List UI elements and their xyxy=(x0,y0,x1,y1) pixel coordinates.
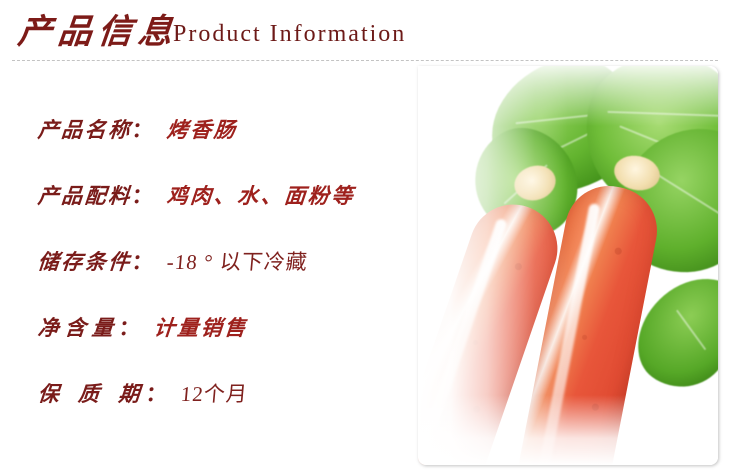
spec-value: 鸡肉、水、面粉等 xyxy=(166,180,357,210)
spec-row-shelf-life: 保 质 期 ： 12个月 xyxy=(0,360,430,426)
spec-label: 产品名称 xyxy=(37,114,134,144)
product-photo-canvas xyxy=(418,66,718,465)
spec-separator: ： xyxy=(131,246,157,276)
spec-label: 净含量 xyxy=(37,312,121,342)
spec-separator: ： xyxy=(131,114,157,144)
spec-value: 计量销售 xyxy=(153,312,250,342)
product-spec-list: 产品名称 ： 烤香肠 产品配料 ： 鸡肉、水、面粉等 储存条件 ： -18 ° … xyxy=(0,96,430,426)
spec-value: 12个月 xyxy=(179,378,249,408)
spec-label: 产品配料 xyxy=(37,180,134,210)
spec-row-storage-condition: 储存条件 ： -18 ° 以下冷藏 xyxy=(0,228,430,294)
photo-fade-bottom xyxy=(418,395,718,465)
spec-separator: ： xyxy=(131,180,157,210)
spec-value: -18 ° 以下冷藏 xyxy=(166,246,310,276)
spec-row-ingredients: 产品配料 ： 鸡肉、水、面粉等 xyxy=(0,162,430,228)
header-divider xyxy=(12,60,718,61)
spec-label: 保 质 期 xyxy=(37,378,147,408)
product-photo xyxy=(418,66,718,465)
page-title-chinese: 产品信息 xyxy=(16,10,181,54)
page-header: 产品信息 Product Information xyxy=(0,0,730,62)
spec-label: 储存条件 xyxy=(37,246,134,276)
spec-row-product-name: 产品名称 ： 烤香肠 xyxy=(0,96,430,162)
spec-value: 烤香肠 xyxy=(166,114,239,144)
spec-row-net-content: 净含量 ： 计量销售 xyxy=(0,294,430,360)
page-title-english: Product Information xyxy=(173,19,406,49)
spec-separator: ： xyxy=(118,312,144,342)
spec-separator: ： xyxy=(144,378,170,408)
